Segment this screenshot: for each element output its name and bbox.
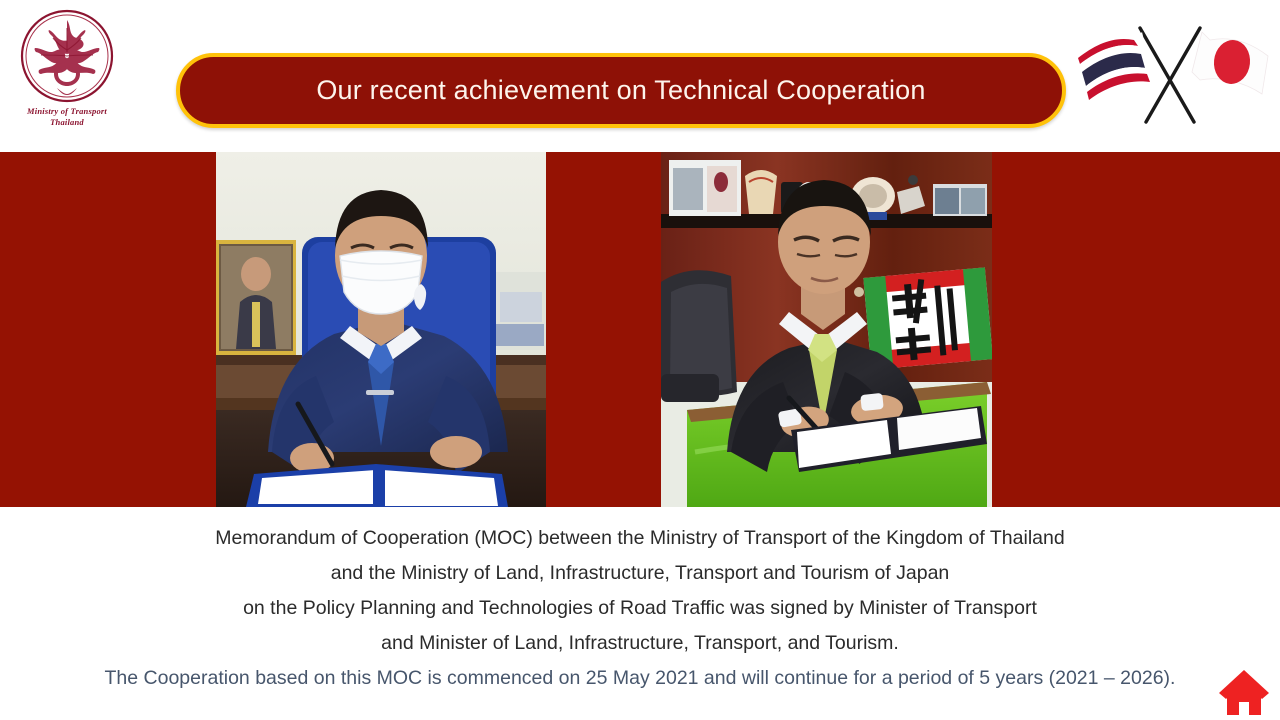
home-icon[interactable]: [1218, 668, 1270, 716]
caption-line-3: on the Policy Planning and Technologies …: [0, 591, 1280, 626]
thailand-flag-icon: [1078, 32, 1152, 100]
caption-block: Memorandum of Cooperation (MOC) between …: [0, 507, 1280, 720]
ministry-logo: Ministry of Transport Thailand: [12, 8, 122, 140]
caption-line-4: and Minister of Land, Infrastructure, Tr…: [0, 626, 1280, 661]
ministry-name-line1: Ministry of Transport: [12, 106, 122, 117]
photo-band: [0, 152, 1280, 507]
caption-line-1: Memorandum of Cooperation (MOC) between …: [0, 521, 1280, 556]
ministry-name-line2: Thailand: [12, 117, 122, 128]
crossed-flags-graphic: [1072, 10, 1272, 142]
japan-flag-icon: [1192, 32, 1268, 94]
japan-minister-signing-photo: [661, 152, 992, 507]
ministry-seal-icon: [19, 8, 115, 104]
caption-line-2: and the Ministry of Land, Infrastructure…: [0, 556, 1280, 591]
slide-header: Ministry of Transport Thailand Our recen…: [0, 0, 1280, 152]
page-title: Our recent achievement on Technical Coop…: [316, 75, 925, 106]
caption-accent-line: The Cooperation based on this MOC is com…: [0, 661, 1280, 696]
slide-title-banner: Our recent achievement on Technical Coop…: [176, 53, 1066, 128]
thailand-minister-signing-photo: [216, 152, 546, 507]
